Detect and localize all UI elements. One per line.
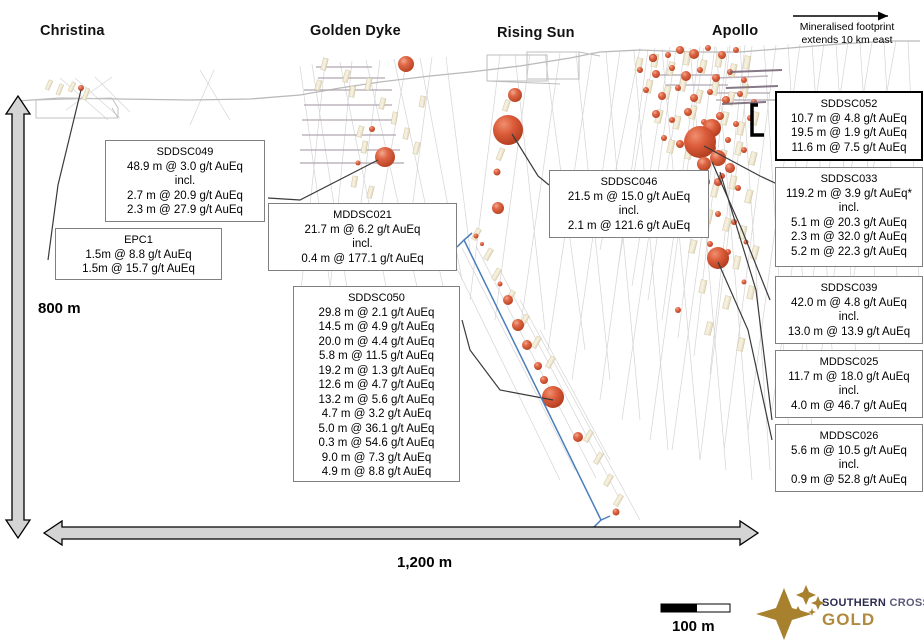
callout-hole-id: MDDSC025 (782, 355, 916, 370)
callout-box-epc1: EPC11.5m @ 8.8 g/t AuEq1.5m @ 15.7 g/t A… (55, 228, 222, 280)
callout-intercept-line: 0.9 m @ 52.8 g/t AuEq (782, 473, 916, 488)
callout-hole-id: SDDSC049 (112, 145, 258, 160)
callout-intercept-line: 11.7 m @ 18.0 g/t AuEq (782, 370, 916, 385)
callout-hole-id: SDDSC046 (556, 175, 702, 190)
callout-intercept-line: 1.5m @ 15.7 g/t AuEq (62, 262, 215, 277)
callout-box-sddsc049: SDDSC04948.9 m @ 3.0 g/t AuEqincl.2.7 m … (105, 140, 265, 222)
callout-intercept-line: incl. (782, 458, 916, 473)
footprint-note-line2: extends 10 km east (786, 34, 908, 47)
callout-box-sddsc039: SDDSC03942.0 m @ 4.8 g/t AuEqincl.13.0 m… (775, 276, 923, 344)
callout-hole-id: SDDSC050 (300, 291, 453, 306)
horizontal-dimension-label: 1,200 m (397, 554, 452, 571)
callout-intercept-line: 10.7 m @ 4.8 g/t AuEq (783, 112, 915, 127)
mineralised-footprint-note: Mineralised footprint extends 10 km east (786, 21, 908, 47)
callout-intercept-line: 2.1 m @ 121.6 g/t AuEq (556, 219, 702, 234)
callout-hole-id: SDDSC039 (782, 281, 916, 296)
callout-box-sddsc046: SDDSC04621.5 m @ 15.0 g/t AuEqincl.2.1 m… (549, 170, 709, 238)
callout-intercept-line: incl. (782, 310, 916, 325)
callout-intercept-line: 21.5 m @ 15.0 g/t AuEq (556, 190, 702, 205)
callout-intercept-line: 12.6 m @ 4.7 g/t AuEq (300, 378, 453, 393)
callout-intercept-line: 4.7 m @ 3.2 g/t AuEq (300, 407, 453, 422)
vertical-dimension-arrow (6, 96, 30, 538)
callout-intercept-line: 0.3 m @ 54.6 g/t AuEq (300, 436, 453, 451)
prospect-label-apollo: Apollo (712, 23, 758, 39)
callout-intercept-line: 5.8 m @ 11.5 g/t AuEq (300, 349, 453, 364)
southern-cross-star-icon (756, 585, 825, 640)
callout-intercept-line: 48.9 m @ 3.0 g/t AuEq (112, 160, 258, 175)
callout-hole-id: EPC1 (62, 233, 215, 248)
prospect-label-golden-dyke: Golden Dyke (310, 23, 401, 39)
prospect-label-christina: Christina (40, 23, 105, 39)
callout-intercept-line: 5.2 m @ 22.3 g/t AuEq (782, 245, 916, 260)
callout-intercept-line: 4.9 m @ 8.8 g/t AuEq (300, 465, 453, 480)
callout-intercept-line: 2.3 m @ 32.0 g/t AuEq (782, 230, 916, 245)
callout-intercept-line: 13.0 m @ 13.9 g/t AuEq (782, 325, 916, 340)
callout-intercept-line: 9.0 m @ 7.3 g/t AuEq (300, 451, 453, 466)
callout-hole-id: SDDSC033 (782, 172, 916, 187)
callout-intercept-line: incl. (782, 384, 916, 399)
callout-intercept-line: 42.0 m @ 4.8 g/t AuEq (782, 296, 916, 311)
callout-hole-id: SDDSC052 (783, 97, 915, 112)
callout-intercept-line: 1.5m @ 8.8 g/t AuEq (62, 248, 215, 263)
scale-bar-label: 100 m (672, 618, 715, 635)
callout-intercept-line: 13.2 m @ 5.6 g/t AuEq (300, 393, 453, 408)
callout-intercept-line: 19.2 m @ 1.3 g/t AuEq (300, 364, 453, 379)
scale-bar (661, 604, 730, 612)
callout-intercept-line: 2.3 m @ 27.9 g/t AuEq (112, 203, 258, 218)
callout-intercept-line: 19.5 m @ 1.9 g/t AuEq (783, 126, 915, 141)
cross-section-figure: Christina Golden Dyke Rising Sun Apollo … (0, 0, 924, 644)
callout-intercept-line: 21.7 m @ 6.2 g/t AuEq (275, 223, 450, 238)
callout-intercept-line: incl. (556, 204, 702, 219)
callout-intercept-line: 5.0 m @ 36.1 g/t AuEq (300, 422, 453, 437)
callout-intercept-line: 5.6 m @ 10.5 g/t AuEq (782, 444, 916, 459)
callout-box-sddsc033: SDDSC033119.2 m @ 3.9 g/t AuEq*incl.5.1 … (775, 167, 923, 267)
callout-intercept-line: 29.8 m @ 2.1 g/t AuEq (300, 306, 453, 321)
callout-intercept-line: 20.0 m @ 4.4 g/t AuEq (300, 335, 453, 350)
callout-box-sddsc052: SDDSC05210.7 m @ 4.8 g/t AuEq19.5 m @ 1.… (775, 91, 923, 161)
logo-gold: GOLD (822, 611, 924, 628)
callout-hole-id: MDDSC021 (275, 208, 450, 223)
prospect-label-rising-sun: Rising Sun (497, 25, 575, 41)
callout-intercept-line: 2.7 m @ 20.9 g/t AuEq (112, 189, 258, 204)
callout-box-mddsc026: MDDSC0265.6 m @ 10.5 g/t AuEqincl.0.9 m … (775, 424, 923, 492)
footprint-arrow (793, 12, 888, 21)
callout-intercept-line: incl. (275, 237, 450, 252)
logo-southern: SOUTHERN (822, 597, 886, 609)
callout-box-sddsc050: SDDSC05029.8 m @ 2.1 g/t AuEq14.5 m @ 4.… (293, 286, 460, 482)
callout-hole-id: MDDSC026 (782, 429, 916, 444)
callout-box-mddsc021: MDDSC02121.7 m @ 6.2 g/t AuEqincl.0.4 m … (268, 203, 457, 271)
footprint-note-line1: Mineralised footprint (786, 21, 908, 34)
callout-intercept-line: 119.2 m @ 3.9 g/t AuEq* (782, 187, 916, 202)
southern-cross-gold-logo: SOUTHERN CROSS GOLD (822, 598, 924, 628)
callout-intercept-line: 11.6 m @ 7.5 g/t AuEq (783, 141, 915, 156)
callout-intercept-line: 0.4 m @ 177.1 g/t AuEq (275, 252, 450, 267)
horizontal-dimension-arrow (44, 521, 758, 545)
callout-intercept-line: incl. (782, 201, 916, 216)
callout-intercept-line: 5.1 m @ 20.3 g/t AuEq (782, 216, 916, 231)
logo-cross: CROSS (889, 597, 924, 609)
callout-intercept-line: 14.5 m @ 4.9 g/t AuEq (300, 320, 453, 335)
callout-intercept-line: incl. (112, 174, 258, 189)
vertical-dimension-label: 800 m (38, 300, 81, 317)
callout-intercept-line: 4.0 m @ 46.7 g/t AuEq (782, 399, 916, 414)
callout-box-mddsc025: MDDSC02511.7 m @ 18.0 g/t AuEqincl.4.0 m… (775, 350, 923, 418)
